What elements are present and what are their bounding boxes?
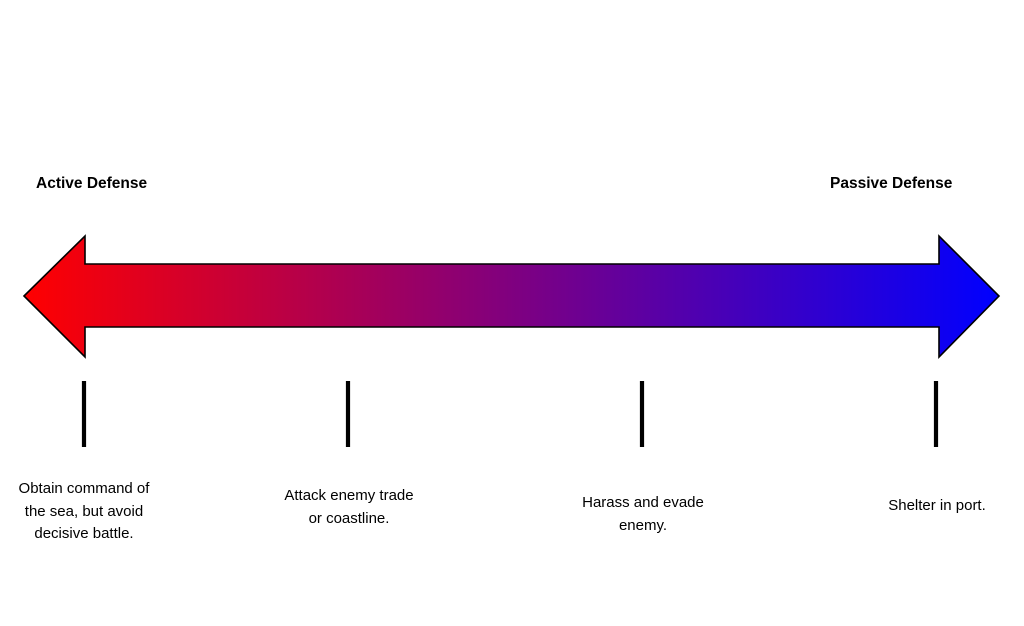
double-headed-arrow (24, 236, 999, 357)
diagram-canvas: Active Defense Passive Defense Obtain co… (0, 0, 1024, 626)
tick-caption-4: Shelter in port. (862, 495, 1012, 518)
tick-caption-1: Obtain command of the sea, but avoid dec… (14, 478, 154, 546)
tick-caption-3: Harass and evade enemy. (570, 492, 716, 537)
tick-caption-2: Attack enemy trade or coastline. (276, 485, 422, 530)
